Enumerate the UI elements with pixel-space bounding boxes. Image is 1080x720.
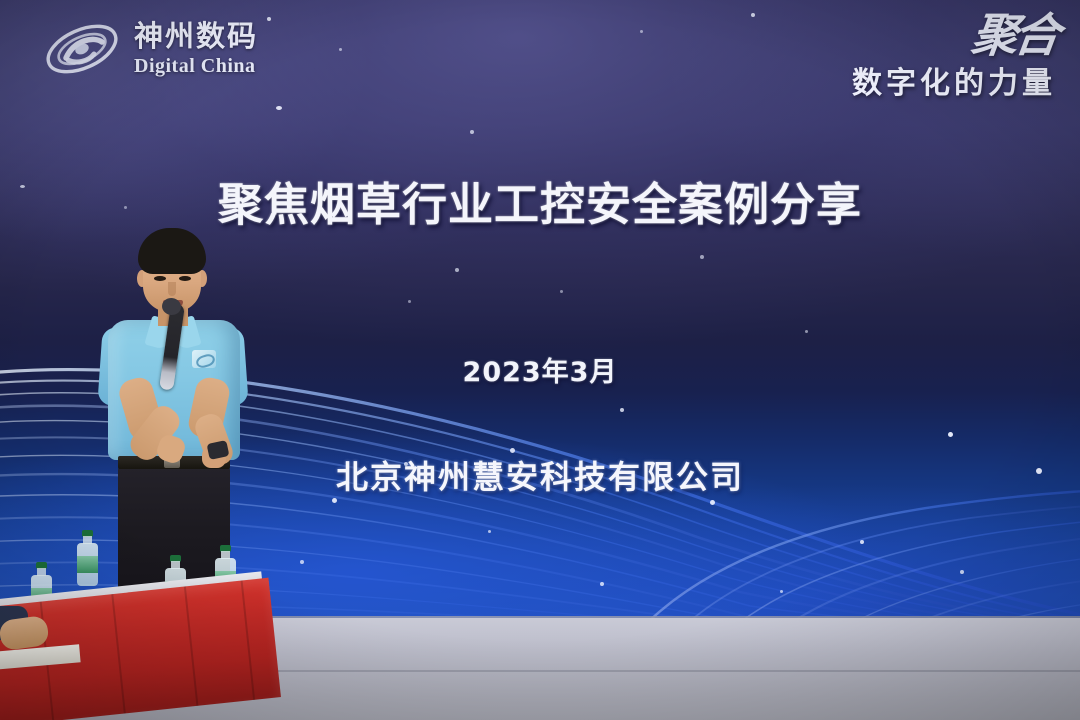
logo-text-cn: 神州数码 [134,22,258,51]
shirt-logo-icon [192,350,216,368]
swirl-spiral-icon [42,18,122,80]
particle-dot [640,30,643,33]
event-calligraphy: 聚合 [969,14,1058,56]
particle-dot [700,255,704,259]
particle-dot [267,17,271,21]
particle-dot [339,48,342,51]
particle-dot [470,130,474,134]
slide-title: 聚焦烟草行业工控安全案例分享 [0,182,1080,227]
presenter-eye-left [154,276,166,281]
particle-dot [560,290,563,293]
particle-dot [408,300,411,303]
event-subtitle: 数字化的力量 [852,58,1056,102]
presenter-eye-right [179,276,191,281]
presenter-nose [168,282,176,296]
seated-attendee [0,612,78,682]
particle-dot [751,13,755,17]
event-theme-mark: 聚合 数字化的力量 [852,14,1056,102]
particle-dot [276,106,282,110]
logo-text-en: Digital China [134,56,258,76]
presenter-hair [138,228,206,274]
particle-dot [455,268,459,272]
conference-stage-photo: 神州数码 Digital China 聚合 数字化的力量 聚焦烟草行业工控安全案… [0,0,1080,720]
digital-china-logo: 神州数码 Digital China [42,18,258,80]
